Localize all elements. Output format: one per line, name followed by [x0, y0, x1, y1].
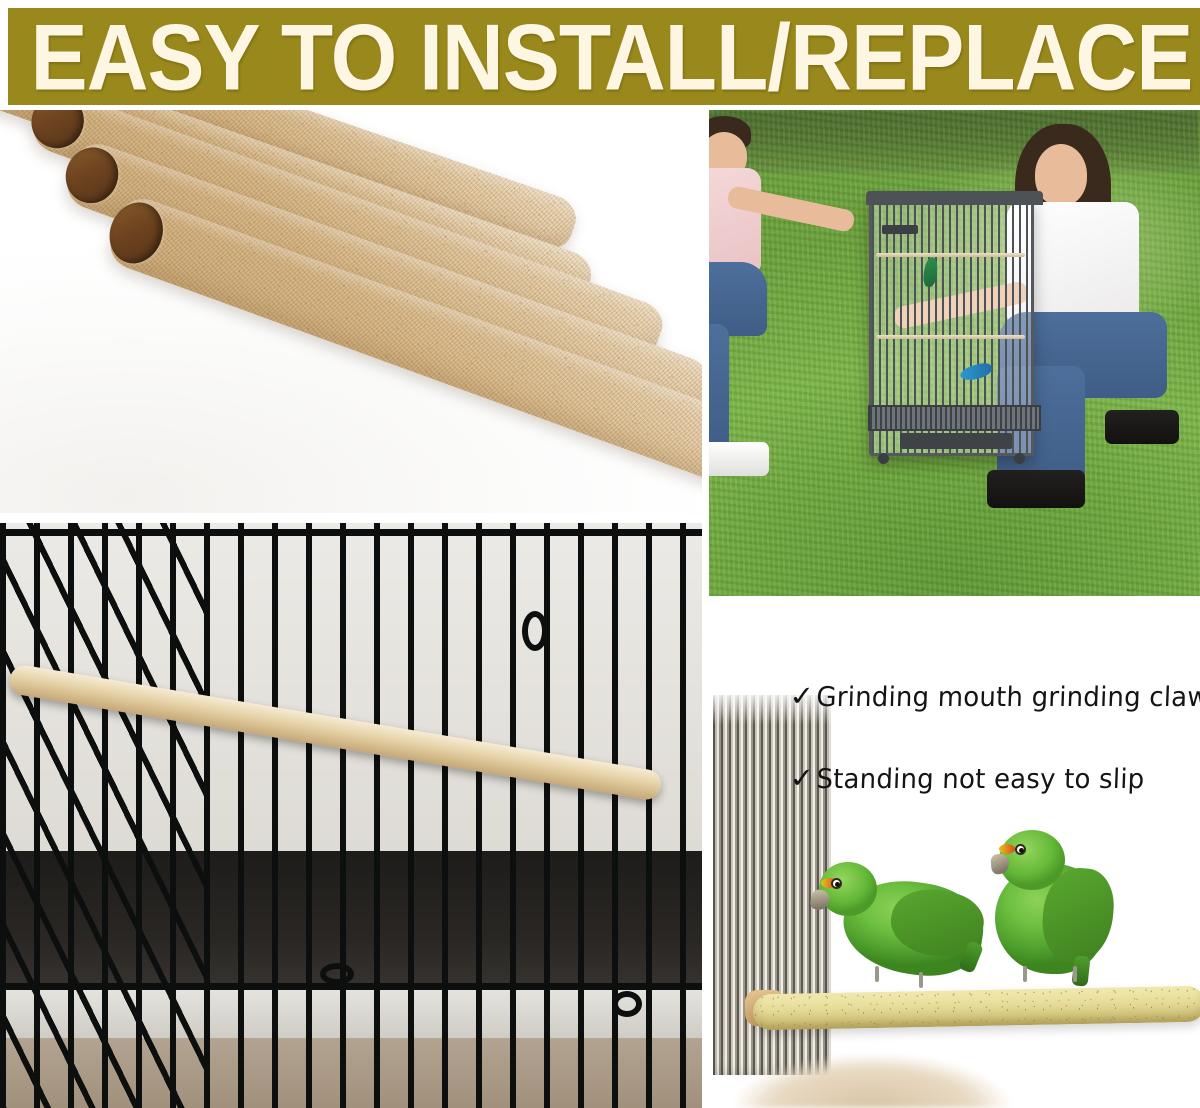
- feature-label: Grinding mouth grinding claw: [816, 682, 1200, 713]
- cage-inner-perch: [876, 253, 1025, 257]
- parrot-foot: [919, 972, 923, 988]
- shoe: [1105, 410, 1179, 444]
- cage-tray: [868, 405, 1041, 431]
- parrot-foot: [1073, 966, 1077, 982]
- parrot-foot: [1023, 966, 1027, 982]
- sand-perch-bar: [753, 986, 1200, 1031]
- cage-caster: [878, 453, 889, 464]
- cage-clip: [612, 991, 642, 1017]
- parrot-eye: [831, 878, 842, 889]
- parrot-eye: [1015, 844, 1026, 855]
- headline-banner: EASY TO INSTALL/REPLACE: [8, 8, 1200, 105]
- feature-label: Standing not easy to slip: [816, 764, 1145, 795]
- torso: [709, 168, 761, 272]
- cage-inner-perch: [876, 335, 1025, 339]
- bird-cage: [869, 196, 1034, 456]
- parrot-head: [999, 830, 1065, 890]
- budgie-green: [922, 256, 939, 288]
- cage-horizontal-bar: [0, 983, 702, 990]
- features-parrots-photo: ✓ Grinding mouth grinding claw ✓ Standin…: [709, 620, 1200, 1108]
- product-tubes-photo: [0, 110, 702, 513]
- parrot-foot: [875, 966, 879, 982]
- cage-diagonal-bars: [0, 523, 210, 1108]
- right-parrot: [977, 820, 1157, 1000]
- left-parrot: [813, 856, 993, 996]
- cage-drawer: [900, 433, 1012, 449]
- feature-bullet: ✓ Standing not easy to slip: [791, 764, 1191, 794]
- cage-clip: [522, 611, 548, 651]
- feature-bullet: ✓ Grinding mouth grinding claw: [791, 682, 1191, 712]
- cage-closeup-photo: [0, 523, 702, 1108]
- leg: [709, 324, 729, 456]
- shoe: [709, 442, 769, 476]
- budgie-blue: [959, 361, 994, 383]
- person-man: [709, 112, 857, 492]
- blurred-sand-surface: [737, 1038, 1037, 1108]
- outdoor-install-photo: [709, 110, 1200, 596]
- parrot-face-mask: [999, 844, 1015, 854]
- cage-caster: [1014, 453, 1025, 464]
- cage-horizontal-bar: [0, 529, 702, 536]
- cage-top-bar: [866, 191, 1043, 205]
- shoe: [987, 470, 1085, 508]
- parrot-head: [819, 862, 877, 916]
- cage-clip: [320, 963, 354, 985]
- cage-nameplate: [882, 225, 918, 234]
- headline-text: EASY TO INSTALL/REPLACE: [8, 9, 1192, 103]
- tube-bore: [0, 110, 37, 113]
